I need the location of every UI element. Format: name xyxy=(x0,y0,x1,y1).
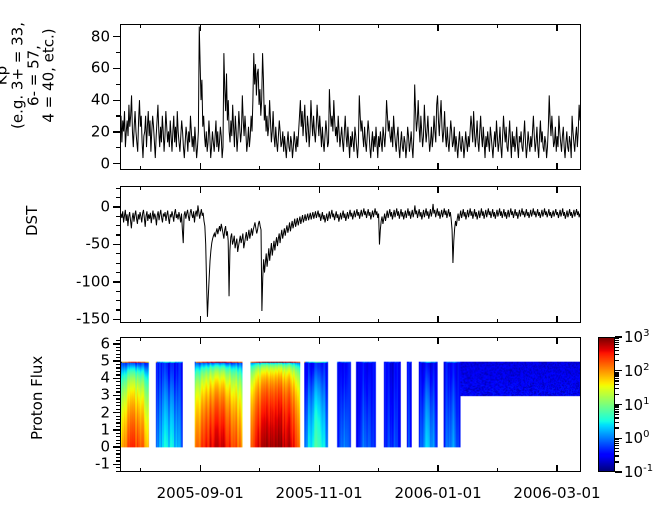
y-tick-label: 40 xyxy=(62,93,110,108)
colorbar-minor-tick xyxy=(615,414,619,415)
colorbar-tick-label: 100 xyxy=(624,429,649,447)
y-minor-tick xyxy=(116,340,120,341)
x-minor-tick xyxy=(140,319,141,323)
x-major-tick xyxy=(319,316,320,323)
x-major-tick xyxy=(556,316,557,323)
y-minor-tick xyxy=(116,433,120,434)
x-minor-tick xyxy=(378,24,379,28)
colorbar-minor-tick xyxy=(615,354,619,355)
colorbar-minor-tick xyxy=(615,340,619,341)
y-minor-tick xyxy=(116,381,120,382)
x-minor-tick xyxy=(259,468,260,472)
colorbar-minor-tick xyxy=(615,373,619,374)
colorbar xyxy=(598,337,615,472)
y-minor-tick xyxy=(116,416,120,417)
x-minor-tick xyxy=(497,166,498,170)
colorbar-minor-tick xyxy=(615,407,619,408)
x-major-tick xyxy=(437,24,438,31)
x-major-tick xyxy=(319,24,320,31)
colorbar-gradient xyxy=(599,338,614,471)
y-minor-tick xyxy=(116,367,120,368)
x-tick-label: 2005-11-01 xyxy=(276,486,363,501)
y-major-tick xyxy=(113,319,120,320)
y-tick-label: 1 xyxy=(62,422,110,437)
colorbar-minor-tick xyxy=(615,344,619,345)
x-major-tick xyxy=(437,186,438,193)
y-tick-label: 20 xyxy=(62,124,110,139)
y-tick-label: 2 xyxy=(62,405,110,420)
colorbar-minor-tick xyxy=(615,360,619,361)
x-major-tick xyxy=(556,186,557,193)
x-major-tick xyxy=(437,316,438,323)
y-minor-tick xyxy=(116,291,120,292)
y-minor-tick xyxy=(116,216,120,217)
y-minor-tick xyxy=(116,197,120,198)
y-minor-tick xyxy=(116,357,120,358)
y-major-tick xyxy=(113,131,120,132)
y-major-tick xyxy=(113,464,120,465)
dst-plot-panel xyxy=(120,186,581,323)
y-major-tick xyxy=(113,163,120,164)
x-minor-tick xyxy=(497,319,498,323)
y-minor-tick xyxy=(116,426,120,427)
y-major-tick xyxy=(113,395,120,396)
x-tick-label: 2006-03-01 xyxy=(513,486,600,501)
y-minor-tick xyxy=(116,436,120,437)
y-major-tick xyxy=(113,412,120,413)
x-minor-tick xyxy=(140,186,141,190)
x-major-tick xyxy=(556,465,557,472)
y-major-tick xyxy=(113,206,120,207)
colorbar-minor-tick xyxy=(615,417,619,418)
x-minor-tick xyxy=(378,337,379,341)
figure-canvas: Kp (e.g. 3+ = 33, 6- = 57, 4 = 40, etc.)… xyxy=(0,0,665,523)
y-minor-tick xyxy=(116,467,120,468)
colorbar-minor-tick xyxy=(615,409,619,410)
x-minor-tick xyxy=(259,319,260,323)
y-minor-tick xyxy=(116,422,120,423)
x-minor-tick xyxy=(259,186,260,190)
y-minor-tick xyxy=(116,385,120,386)
y-tick-label: 60 xyxy=(62,61,110,76)
dst-timeseries-trace xyxy=(121,187,580,322)
x-tick-label: 2006-01-01 xyxy=(394,486,481,501)
x-minor-tick xyxy=(140,468,141,472)
y-major-tick xyxy=(113,429,120,430)
y-minor-tick xyxy=(116,52,120,53)
x-major-tick xyxy=(200,186,201,193)
x-major-tick xyxy=(556,163,557,170)
y-tick-label: -100 xyxy=(62,274,110,289)
kp-axis-title-line-4: 4 = 40, etc.) xyxy=(42,6,58,146)
y-minor-tick xyxy=(116,272,120,273)
dst-axis-title: DST xyxy=(25,206,41,236)
y-tick-label: 5 xyxy=(62,354,110,369)
y-tick-label: 4 xyxy=(62,371,110,386)
colorbar-minor-tick xyxy=(615,375,619,376)
x-minor-tick xyxy=(140,24,141,28)
x-minor-tick xyxy=(378,468,379,472)
y-minor-tick xyxy=(116,453,120,454)
x-major-tick xyxy=(319,337,320,344)
colorbar-minor-tick xyxy=(615,384,619,385)
x-major-tick xyxy=(200,163,201,170)
y-major-tick xyxy=(113,446,120,447)
x-minor-tick xyxy=(378,319,379,323)
colorbar-minor-tick xyxy=(615,405,619,406)
y-tick-label: 0 xyxy=(62,156,110,171)
x-major-tick xyxy=(200,337,201,344)
x-minor-tick xyxy=(259,166,260,170)
y-minor-tick xyxy=(116,234,120,235)
colorbar-minor-tick xyxy=(615,448,619,449)
y-tick-label: -1 xyxy=(62,457,110,472)
colorbar-minor-tick xyxy=(615,380,619,381)
x-minor-tick xyxy=(259,24,260,28)
x-major-tick xyxy=(200,465,201,472)
x-minor-tick xyxy=(378,166,379,170)
colorbar-minor-tick xyxy=(615,445,619,446)
y-minor-tick xyxy=(116,364,120,365)
colorbar-minor-tick xyxy=(615,338,619,339)
y-minor-tick xyxy=(116,147,120,148)
colorbar-minor-tick xyxy=(615,350,619,351)
y-minor-tick xyxy=(116,402,120,403)
x-major-tick xyxy=(319,465,320,472)
kp-axis-title: Kp (e.g. 3+ = 33, 6- = 57, 4 = 40, etc.) xyxy=(0,6,58,146)
x-minor-tick xyxy=(378,186,379,190)
x-minor-tick xyxy=(140,337,141,341)
y-minor-tick xyxy=(116,457,120,458)
y-minor-tick xyxy=(116,115,120,116)
y-minor-tick xyxy=(116,419,120,420)
colorbar-minor-tick xyxy=(615,372,619,373)
colorbar-major-tick xyxy=(615,471,622,472)
x-tick-label: 2005-09-01 xyxy=(157,486,244,501)
y-major-tick xyxy=(113,100,120,101)
y-minor-tick xyxy=(116,309,120,310)
y-minor-tick xyxy=(116,405,120,406)
colorbar-major-tick xyxy=(615,438,622,439)
colorbar-minor-tick xyxy=(615,441,619,442)
y-major-tick xyxy=(113,68,120,69)
y-minor-tick xyxy=(116,398,120,399)
x-major-tick xyxy=(200,24,201,31)
colorbar-tick-label: 10-1 xyxy=(624,463,653,481)
y-minor-tick xyxy=(116,374,120,375)
colorbar-tick-label: 103 xyxy=(624,328,649,346)
y-tick-label: 80 xyxy=(62,29,110,44)
x-minor-tick xyxy=(140,166,141,170)
colorbar-major-tick xyxy=(615,336,622,337)
colorbar-minor-tick xyxy=(615,443,619,444)
x-major-tick xyxy=(437,337,438,344)
y-tick-label: 6 xyxy=(62,336,110,351)
colorbar-minor-tick xyxy=(615,455,619,456)
x-major-tick xyxy=(556,337,557,344)
y-minor-tick xyxy=(116,84,120,85)
y-minor-tick xyxy=(116,409,120,410)
colorbar-minor-tick xyxy=(615,427,619,428)
y-minor-tick xyxy=(116,300,120,301)
colorbar-minor-tick xyxy=(615,451,619,452)
colorbar-minor-tick xyxy=(615,394,619,395)
colorbar-tick-label: 101 xyxy=(624,396,649,414)
x-major-tick xyxy=(319,186,320,193)
kp-timeseries-trace xyxy=(121,25,580,169)
x-major-tick xyxy=(437,163,438,170)
colorbar-minor-tick xyxy=(615,461,619,462)
y-minor-tick xyxy=(116,371,120,372)
y-minor-tick xyxy=(116,347,120,348)
y-major-tick xyxy=(113,360,120,361)
y-minor-tick xyxy=(116,391,120,392)
y-tick-label: 3 xyxy=(62,388,110,403)
y-minor-tick xyxy=(116,354,120,355)
colorbar-major-tick xyxy=(615,404,622,405)
y-minor-tick xyxy=(116,225,120,226)
x-major-tick xyxy=(319,163,320,170)
y-minor-tick xyxy=(116,450,120,451)
y-minor-tick xyxy=(116,350,120,351)
x-minor-tick xyxy=(497,186,498,190)
colorbar-major-tick xyxy=(615,370,622,371)
proton-flux-spectrogram xyxy=(121,338,580,471)
x-major-tick xyxy=(556,24,557,31)
colorbar-minor-tick xyxy=(615,388,619,389)
x-minor-tick xyxy=(497,468,498,472)
kp-plot-panel xyxy=(120,24,581,170)
y-minor-tick xyxy=(116,263,120,264)
y-tick-label: -50 xyxy=(62,237,110,252)
proton-flux-plot-panel xyxy=(120,337,581,472)
x-minor-tick xyxy=(497,24,498,28)
colorbar-minor-tick xyxy=(615,347,619,348)
colorbar-tick-label: 102 xyxy=(624,362,649,380)
y-minor-tick xyxy=(116,471,120,472)
y-minor-tick xyxy=(116,443,120,444)
y-minor-tick xyxy=(116,188,120,189)
x-major-tick xyxy=(200,316,201,323)
y-minor-tick xyxy=(116,460,120,461)
colorbar-minor-tick xyxy=(615,422,619,423)
y-major-tick xyxy=(113,343,120,344)
y-minor-tick xyxy=(116,440,120,441)
y-major-tick xyxy=(113,36,120,37)
y-tick-label: -150 xyxy=(62,312,110,327)
y-major-tick xyxy=(113,244,120,245)
colorbar-minor-tick xyxy=(615,439,619,440)
colorbar-minor-tick xyxy=(615,342,619,343)
x-minor-tick xyxy=(497,337,498,341)
proton-flux-axis-title: Proton Flux xyxy=(30,356,46,440)
y-major-tick xyxy=(113,281,120,282)
y-major-tick xyxy=(113,378,120,379)
x-major-tick xyxy=(437,465,438,472)
y-tick-label: 0 xyxy=(62,199,110,214)
x-minor-tick xyxy=(259,337,260,341)
colorbar-minor-tick xyxy=(615,378,619,379)
y-tick-label: 0 xyxy=(62,440,110,455)
y-minor-tick xyxy=(116,253,120,254)
colorbar-minor-tick xyxy=(615,411,619,412)
y-minor-tick xyxy=(116,388,120,389)
